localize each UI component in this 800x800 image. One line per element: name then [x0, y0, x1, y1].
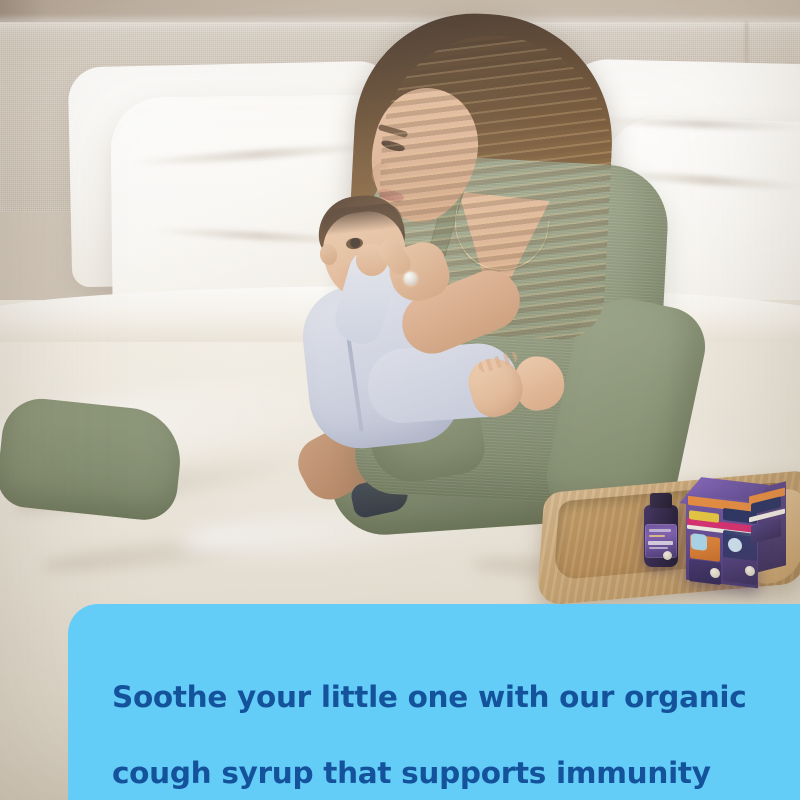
headboard-top-edge	[0, 18, 800, 32]
syrup-bottle-label-text	[649, 535, 665, 537]
syrup-bottle-label-text	[649, 529, 671, 532]
syrup-bottle-label-text	[648, 541, 673, 545]
mother-ring	[404, 272, 417, 285]
caption-headline: Soothe your little one with our organic …	[112, 640, 800, 800]
syrup-bottle-cap	[650, 493, 672, 508]
carton-lightblue-chip	[691, 533, 707, 551]
syrup-bottle-seal-icon	[663, 551, 672, 560]
syrup-bottle-label-text	[649, 547, 668, 549]
carton-usda-organic-seal-icon	[710, 567, 720, 578]
advertisement-root: Soothe your little one with our organic …	[0, 0, 800, 800]
caption-line-1: Soothe your little one with our organic	[112, 678, 800, 716]
caption-banner: Soothe your little one with our organic …	[68, 604, 800, 800]
caption-line-2: cough syrup that supports immunity	[112, 754, 800, 792]
carton-certification-seal-icon	[745, 565, 755, 576]
